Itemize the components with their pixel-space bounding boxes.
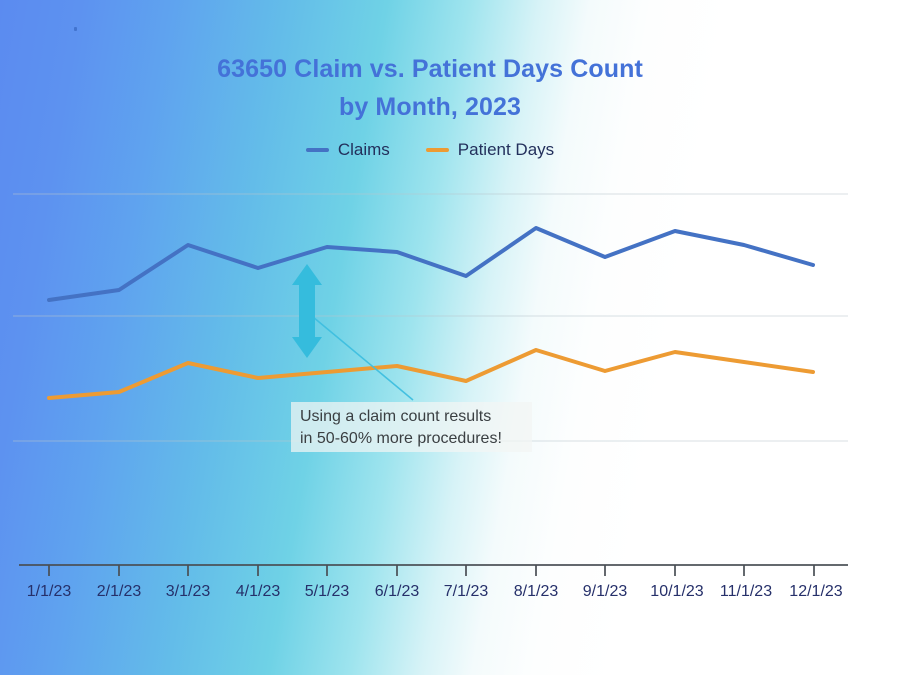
xtick-label-11: 11/1/23 — [720, 583, 772, 601]
xtick-label-3: 3/1/23 — [166, 583, 210, 601]
xtick-label-2: 2/1/23 — [97, 583, 141, 601]
xtick-label-12: 12/1/23 — [789, 583, 842, 601]
xtick-label-9: 9/1/23 — [583, 583, 627, 601]
callout-text: Using a claim count results in 50-60% mo… — [300, 406, 530, 450]
double-arrow-annotation — [292, 264, 322, 358]
x-axis-ticks — [49, 565, 814, 576]
xtick-label-6: 6/1/23 — [375, 583, 419, 601]
chart-plot-area — [0, 0, 900, 675]
xtick-label-4: 4/1/23 — [236, 583, 280, 601]
callout-leader-line — [307, 312, 413, 400]
xtick-label-5: 5/1/23 — [305, 583, 349, 601]
series-line-patient-days — [49, 350, 813, 398]
xtick-label-10: 10/1/23 — [650, 583, 703, 601]
xtick-label-7: 7/1/23 — [444, 583, 488, 601]
xtick-label-1: 1/1/23 — [27, 583, 71, 601]
xtick-label-8: 8/1/23 — [514, 583, 558, 601]
series-line-claims — [49, 228, 813, 300]
slide-canvas: 63650 Claim vs. Patient Days Count by Mo… — [0, 0, 900, 675]
